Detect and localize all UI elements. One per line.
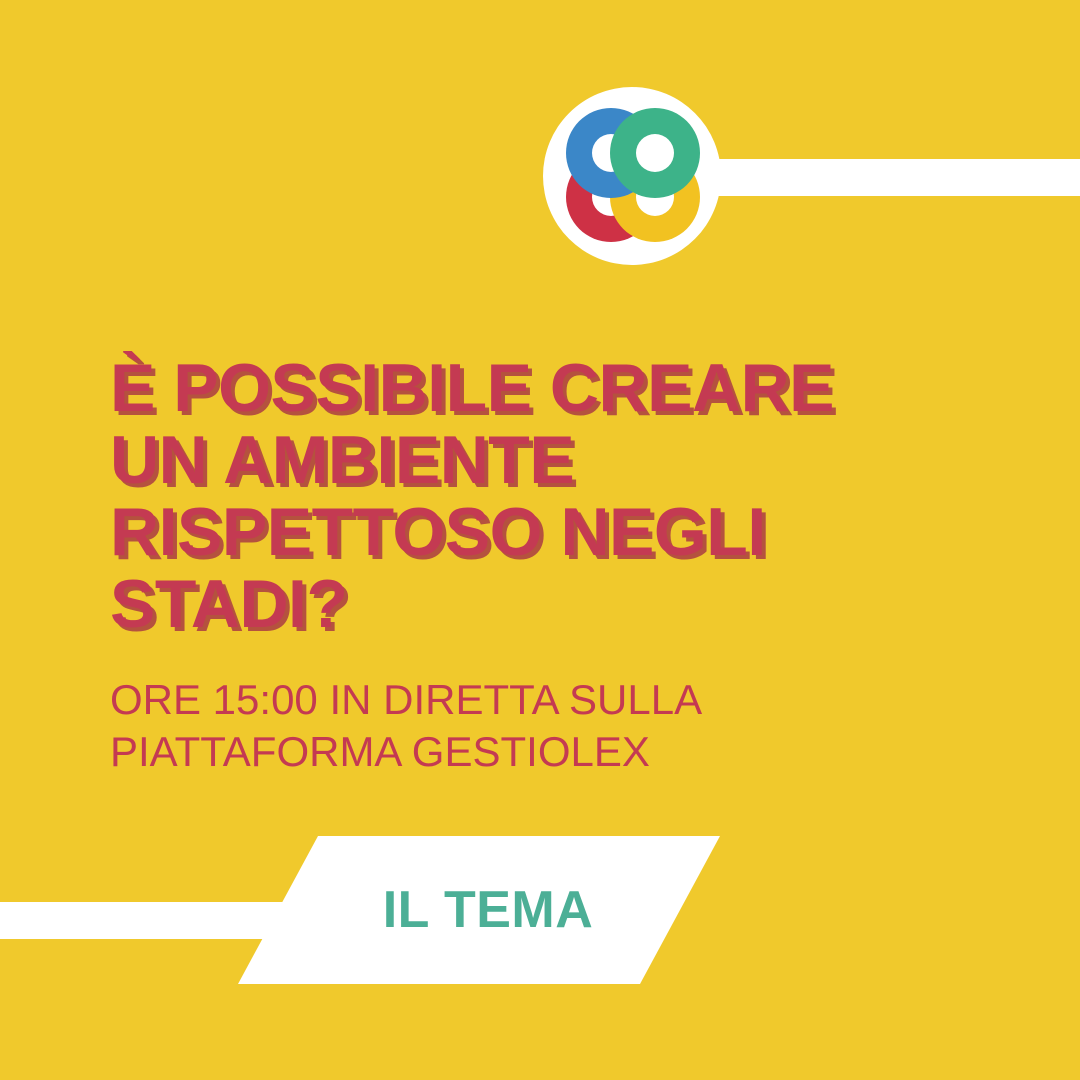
ribbon-label: IL TEMA bbox=[358, 880, 618, 940]
headline-line-1: È POSSIBILE CREARE bbox=[110, 352, 910, 424]
ring-green-shape bbox=[610, 108, 700, 198]
headline-line-3: RISPETTOSO NEGLI bbox=[110, 496, 910, 568]
headline-line-4: STADI? bbox=[110, 568, 910, 640]
brand-logo[interactable] bbox=[543, 87, 721, 265]
subtitle: ORE 15:00 IN DIRETTA SULLA PIATTAFORMA G… bbox=[110, 674, 810, 778]
headline-line-2: UN AMBIENTE bbox=[110, 424, 910, 496]
headline: È POSSIBILE CREARE UN AMBIENTE RISPETTOS… bbox=[110, 352, 910, 640]
subtitle-line-2: PIATTAFORMA GESTIOLEX bbox=[110, 726, 810, 778]
poster-canvas: È POSSIBILE CREARE UN AMBIENTE RISPETTOS… bbox=[0, 0, 1080, 1080]
subtitle-line-1: ORE 15:00 IN DIRETTA SULLA bbox=[110, 674, 810, 726]
four-rings-icon bbox=[543, 87, 721, 265]
